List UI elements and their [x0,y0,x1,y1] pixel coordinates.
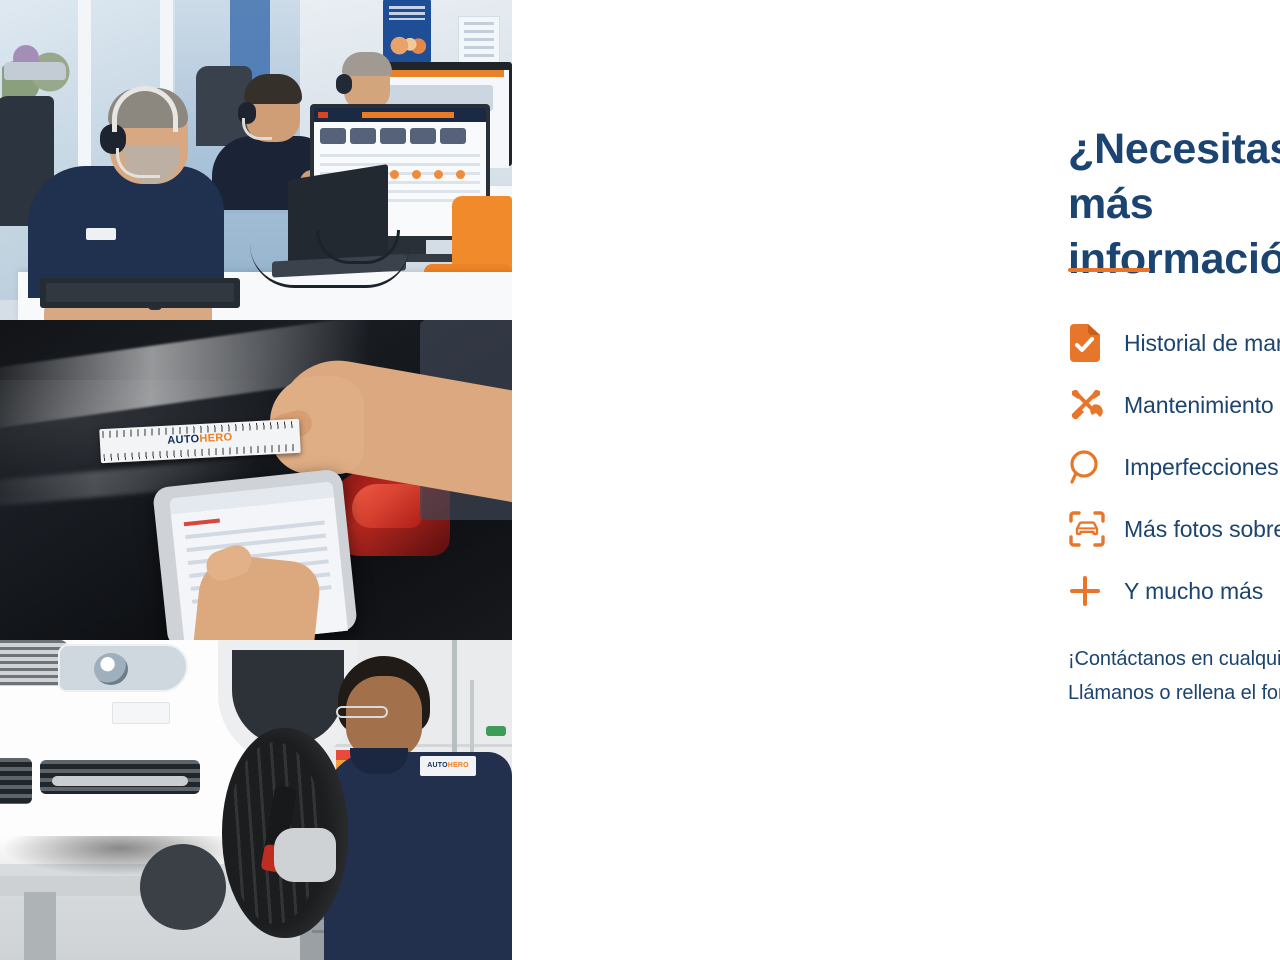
title-underline-rule [1068,268,1150,272]
headline-line-1: ¿Necesitas [1068,122,1280,177]
workshop-wheel-change-photo: AUTOHERO [0,640,512,960]
work-glove [274,828,336,882]
promo-page: AUTOHERO [0,0,1280,960]
tail-light-inner [352,484,422,528]
tools-wrench-screwdriver-icon [1068,387,1124,423]
feature-item-imperfections: Imperfecciones [1068,436,1280,498]
feature-label: Historial de mantenimientos [1124,330,1280,357]
brake-hub [140,844,226,930]
car-scan-frame-icon [1068,510,1124,548]
uniform-brand-patch: AUTOHERO [420,756,476,776]
feature-label: Más fotos sobre el coche [1124,516,1280,543]
car-inspection-ruler-photo: AUTOHERO [0,320,512,640]
document-check-icon [1068,324,1124,362]
car-lift-leg [24,892,56,960]
contact-line-2: Llámanos o rellena el formulario de cont… [1068,676,1280,710]
car-chrome-trim [52,776,188,786]
feature-label: Y mucho más [1124,578,1263,605]
agent-one [28,88,224,288]
feature-item-maintenance-history: Historial de mantenimientos [1068,312,1280,374]
feature-item-much-more: Y mucho más [1068,560,1280,622]
ruler-brand-hero: HERO [199,431,233,445]
wall-notice [458,16,500,64]
car-number-plate [112,702,170,724]
ruler-brand-auto: AUTO [167,433,200,447]
contact-line-1: ¡Contáctanos en cualquier momento para m… [1068,642,1280,676]
magnifier-icon [1068,449,1124,485]
page-title: ¿Necesitas más información? [1068,122,1280,287]
contact-text: ¡Contáctanos en cualquier momento para m… [1068,642,1280,711]
feature-item-more-photos: Más fotos sobre el coche [1068,498,1280,560]
feature-label: Imperfecciones [1124,454,1279,481]
content-panel: ¿Necesitas más información? Historial de… [512,0,1280,960]
outdoor-car [4,62,66,80]
photo-column: AUTOHERO [0,0,512,960]
feature-item-maintenance-done: Mantenimiento realizado [1068,374,1280,436]
plus-icon [1068,574,1124,608]
feature-label: Mantenimiento realizado [1124,392,1280,419]
feature-list: Historial de mantenimientos M [1068,312,1280,622]
call-center-agents-photo [0,0,512,320]
mechanic: AUTOHERO [324,656,512,960]
car-headlight [58,644,188,692]
car-lower-grille [0,758,32,804]
keyboard-tray [40,278,240,308]
